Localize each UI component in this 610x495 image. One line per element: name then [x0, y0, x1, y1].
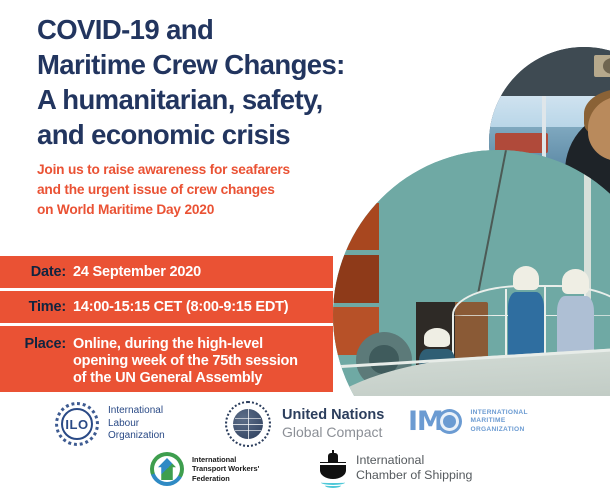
ics-line-1: International: [356, 453, 472, 468]
imo-line-3: ORGANIZATION: [471, 426, 528, 435]
itf-wordmark: International Transport Workers' Federat…: [192, 455, 259, 483]
date-label: Date:: [0, 264, 73, 281]
ilo-emblem-icon: ILO: [55, 402, 99, 446]
time-label: Time:: [0, 299, 73, 316]
place-line-2: opening week of the 75th session: [73, 353, 298, 370]
subtitle-line-2: and the urgent issue of crew changes: [37, 180, 367, 200]
railing-post-1: [505, 289, 507, 358]
ilo-line-3: Organization: [108, 430, 165, 443]
itf-arrow-icon: [150, 452, 184, 486]
ship-icon: [320, 450, 346, 486]
ungc-line-1: United Nations: [282, 407, 384, 424]
bridge-ceiling: [489, 47, 610, 96]
title-line-1: COVID-19 and: [37, 12, 437, 47]
logo-ilo: ILO International Labour Organization: [55, 402, 165, 446]
ungc-equator: [233, 424, 263, 425]
ungc-parallel-south: [235, 430, 261, 431]
itf-line-2: Transport Workers': [192, 464, 259, 473]
seafarer-1-body: [508, 292, 544, 361]
logo-ics: International Chamber of Shipping: [320, 450, 472, 486]
logo-un-global-compact: United Nations Global Compact: [225, 401, 384, 447]
event-details-box: Date: 24 September 2020 Time: 14:00-15:1…: [0, 256, 333, 392]
ics-hull-stripe: [320, 463, 346, 465]
subtitle-line-3: on World Maritime Day 2020: [37, 200, 367, 220]
ilo-monogram: ILO: [55, 402, 99, 446]
seafarer-1: [508, 266, 544, 362]
title-line-3: A humanitarian, safety,: [37, 82, 437, 117]
place-line-1: Online, during the high-level: [73, 336, 298, 353]
un-global-compact-globe-icon: [225, 401, 271, 447]
photo-seafarers-on-bow: [333, 150, 610, 400]
detail-row-place: Place: Online, during the high-level ope…: [0, 326, 333, 395]
seafarer-3-helmet: [424, 328, 450, 347]
ilo-wordmark: International Labour Organization: [108, 405, 165, 443]
title-line-2: Maritime Crew Changes:: [37, 47, 437, 82]
ics-line-2: Chamber of Shipping: [356, 468, 472, 483]
detail-row-date: Date: 24 September 2020: [0, 256, 333, 288]
page-title: COVID-19 and Maritime Crew Changes: A hu…: [37, 12, 437, 152]
time-value: 14:00-15:15 CET (8:00-9:15 EDT): [73, 299, 288, 316]
date-value: 24 September 2020: [73, 264, 201, 281]
ungc-wordmark: United Nations Global Compact: [282, 407, 384, 441]
partner-logo-strip: ILO International Labour Organization Un…: [0, 396, 610, 495]
ics-wordmark: International Chamber of Shipping: [356, 453, 472, 483]
imo-line-1: INTERNATIONAL: [471, 409, 528, 418]
ics-superstructure: [328, 453, 338, 462]
logo-itf: International Transport Workers' Federat…: [150, 452, 259, 486]
subtitle-line-1: Join us to raise awareness for seafarers: [37, 160, 367, 180]
logo-imo: IM INTERNATIONAL MARITIME ORGANIZATION: [408, 408, 528, 435]
container-2: [333, 255, 379, 303]
imo-line-2: MARITIME: [471, 417, 528, 426]
ungc-parallel-north: [235, 418, 261, 419]
poster: COVID-19 and Maritime Crew Changes: A hu…: [0, 0, 610, 495]
place-label: Place:: [0, 336, 73, 353]
imo-full-name: INTERNATIONAL MARITIME ORGANIZATION: [471, 409, 528, 435]
title-line-4: and economic crisis: [37, 117, 437, 152]
railing-post-2: [544, 285, 546, 358]
detail-row-time: Time: 14:00-15:15 CET (8:00-9:15 EDT): [0, 291, 333, 323]
itf-line-1: International: [192, 455, 259, 464]
page-subtitle: Join us to raise awareness for seafarers…: [37, 160, 367, 220]
imo-seal-disc: [437, 409, 462, 434]
ungc-line-2: Global Compact: [282, 424, 384, 441]
seafarer-1-helmet: [513, 266, 539, 291]
imo-seal-icon: IM: [408, 408, 462, 435]
itf-line-3: Federation: [192, 474, 259, 483]
ilo-line-2: Labour: [108, 418, 165, 431]
place-value: Online, during the high-level opening we…: [73, 336, 298, 387]
place-line-3: of the UN General Assembly: [73, 370, 298, 387]
seafarer-2-helmet: [562, 269, 588, 294]
ilo-line-1: International: [108, 405, 165, 418]
imo-seal-core: [443, 415, 456, 428]
ics-wave-2: [325, 483, 341, 488]
